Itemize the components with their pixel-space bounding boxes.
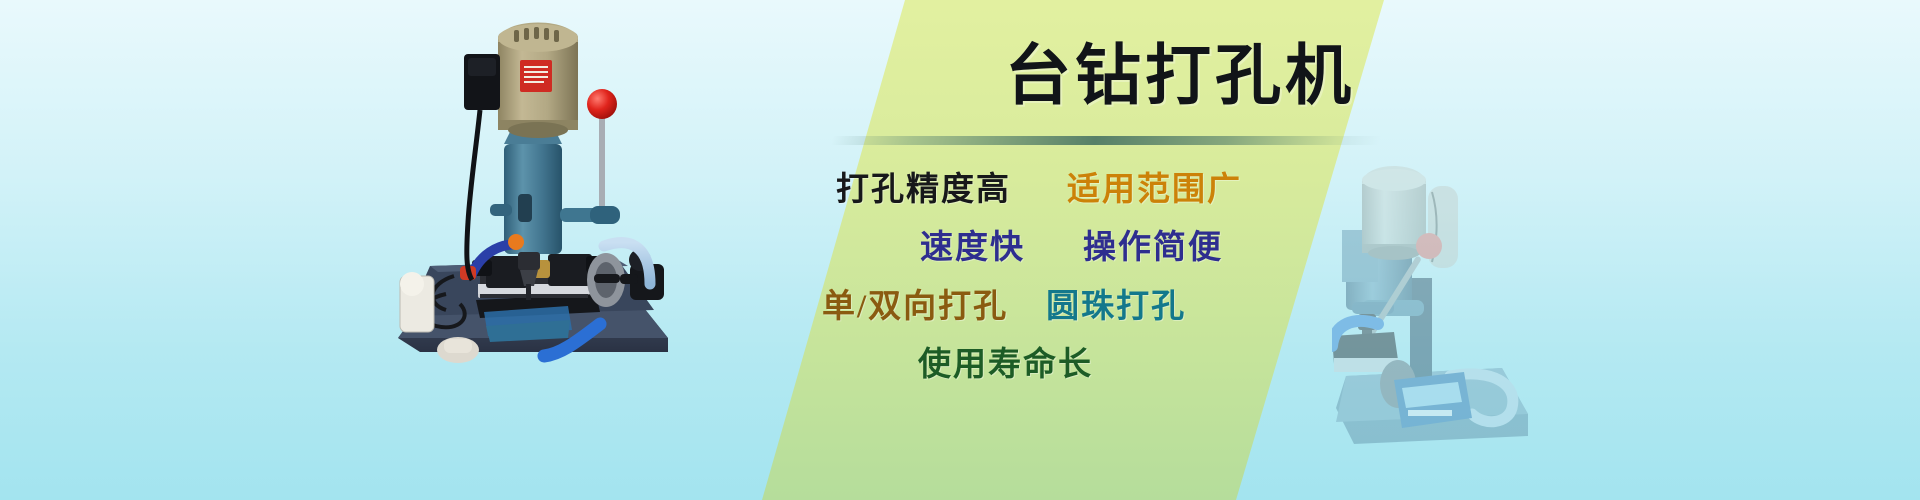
feature-long-service-life: 使用寿命长 <box>918 345 1093 385</box>
switch-box <box>400 272 434 332</box>
page-title: 台钻打孔机 <box>900 44 1460 110</box>
feature-row-1: 打孔精度高 适用范围广 <box>770 170 1390 210</box>
feature-row-4: 使用寿命长 <box>770 345 1390 385</box>
operating-lever <box>587 89 620 224</box>
feature-row-3: 单/双向打孔 圆珠打孔 <box>770 287 1390 327</box>
product-banner: 台钻打孔机 打孔精度高 适用范围广 速度快 操作简便 单/双向打孔 圆珠打孔 使… <box>0 0 1920 500</box>
bench-drill-machine-main-image <box>368 8 698 374</box>
product-box <box>1394 372 1472 428</box>
handwheel <box>587 253 625 307</box>
feature-fast-speed: 速度快 <box>920 228 1025 268</box>
drill-body <box>490 128 618 254</box>
feature-ball-drilling: 圆珠打孔 <box>1046 287 1186 327</box>
title-divider <box>831 136 1382 145</box>
feature-row-2: 速度快 操作简便 <box>770 228 1390 268</box>
feature-wide-application: 适用范围广 <box>1067 170 1242 210</box>
foot-pedal <box>437 337 479 363</box>
title-row: 台钻打孔机 <box>900 44 1460 110</box>
feature-list: 打孔精度高 适用范围广 速度快 操作简便 单/双向打孔 圆珠打孔 使用寿命长 <box>770 170 1390 403</box>
feature-drilling-precision: 打孔精度高 <box>836 170 1011 210</box>
feature-single-double-direction: 单/双向打孔 <box>822 287 1008 327</box>
feature-easy-operation: 操作简便 <box>1083 228 1223 268</box>
